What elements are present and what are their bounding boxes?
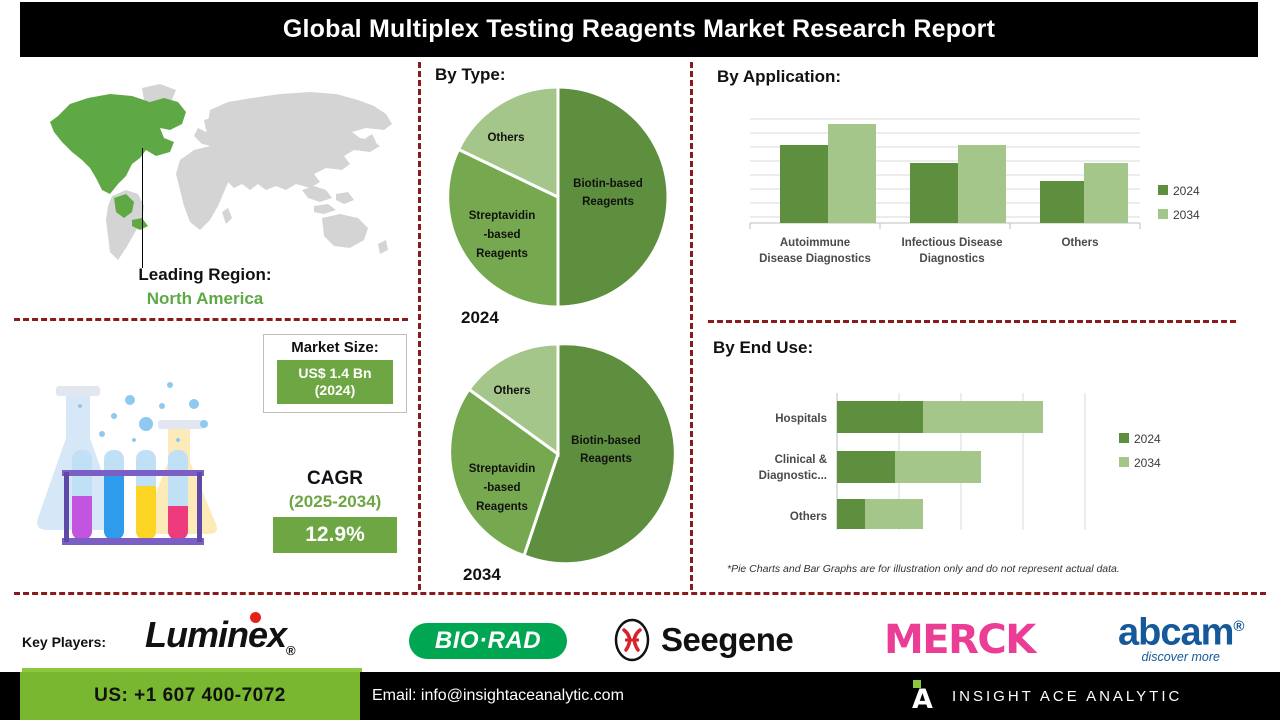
bar-2024-autoimmune [780,145,828,223]
bar-2024-clinical [837,451,895,483]
pie-2034-label-others: Others [493,385,530,397]
bar-2024-infectious [910,163,958,223]
cagr-period: (2025-2034) [258,492,412,512]
end-use-bar-chart: Hospitals Clinical & Diagnostic... Other… [715,375,1195,550]
legend-swatch-2024 [1119,433,1129,443]
bar-2034-hospitals [923,401,1043,433]
market-size-year: (2024) [315,382,355,399]
by-end-use-title: By End Use: [713,338,813,358]
legend-swatch-2034 [1158,209,1168,219]
legend-label-2024: 2024 [1173,184,1200,198]
pie-2024-label-strept: Streptavidin [469,210,535,222]
svg-text:Others: Others [1061,237,1098,249]
bar-2024-hospitals [837,401,923,433]
leading-region-block: Leading Region: North America [0,265,410,309]
footer-brand-name: INSIGHT ACE ANALYTIC [952,688,1182,705]
world-map [14,72,410,268]
by-application-title: By Application: [717,67,841,87]
seegene-mark-icon [612,618,652,662]
svg-text:Reagents: Reagents [476,501,528,513]
svg-text:-based: -based [483,229,520,241]
abcam-wordmark: abcam [1118,612,1233,654]
divider-horizontal-left [14,318,408,321]
footer-phone-block: US: +1 607 400-7072 [20,672,360,720]
svg-text:Diagnostics: Diagnostics [919,253,984,265]
logo-letter-a: A [912,686,933,713]
abcam-wordmark-row: abcam® [1118,608,1243,652]
biorad-wordmark: BIO·RAD [435,627,541,655]
legend-swatch-2034 [1119,457,1129,467]
svg-text:Autoimmune: Autoimmune [780,237,850,249]
svg-text:Infectious Disease: Infectious Disease [902,237,1003,249]
page-title: Global Multiplex Testing Reagents Market… [283,15,995,44]
logo-biorad: BIO·RAD [409,623,567,659]
bar-2034-clinical [895,451,981,483]
pie-2024-label-others: Others [487,132,524,144]
market-size-value: US$ 1.4 Bn [298,365,371,382]
legend-label-2024: 2024 [1134,432,1161,446]
bar-2034-others [865,499,923,529]
map-leader-line [142,148,143,268]
svg-text:Clinical &: Clinical & [775,454,827,466]
lab-equipment-illustration [18,358,258,573]
svg-text:Hospitals: Hospitals [775,413,827,425]
logo-seegene: Seegene [612,618,793,662]
svg-text:Reagents: Reagents [476,248,528,260]
legend-label-2034: 2034 [1173,208,1200,222]
disclaimer-note: *Pie Charts and Bar Graphs are for illus… [727,563,1120,575]
cagr-title: CAGR [258,468,412,490]
pie-chart-2024: Biotin-based Reagents Others Streptavidi… [440,85,680,310]
merck-wordmark: MERCK [884,617,1035,663]
luminex-registered-mark: ® [286,643,295,658]
luminex-dot-icon [250,612,261,623]
divider-vertical-left [418,62,421,590]
svg-text:Reagents: Reagents [582,196,634,208]
bar-2034-autoimmune [828,124,876,223]
logo-abcam: abcam® discover more [1118,608,1243,664]
key-players-label: Key Players: [22,634,106,650]
legend-label-2034: 2034 [1134,456,1161,470]
market-size-card: Market Size: US$ 1.4 Bn (2024) [263,334,407,413]
leading-region-value: North America [0,289,410,309]
svg-text:-based: -based [483,482,520,494]
footer-phone: US: +1 607 400-7072 [94,685,286,707]
logo-merck: MERCK [884,617,1035,663]
abcam-registered-mark: ® [1233,618,1243,635]
pie-chart-2034: Biotin-based Reagents Others Streptavidi… [440,342,680,567]
bar-2024-others [837,499,865,529]
svg-text:Disease Diagnostics: Disease Diagnostics [759,253,871,265]
legend-swatch-2024 [1158,185,1168,195]
footer-email: Email: info@insightaceanalytic.com [372,687,624,705]
svg-text:Reagents: Reagents [580,453,632,465]
seegene-wordmark: Seegene [661,621,793,659]
pie-2024-label-biotin: Biotin-based [573,178,643,190]
footer-email-block: Email: info@insightaceanalytic.com [372,672,624,720]
insightace-logo-icon: A [912,680,938,712]
by-type-title: By Type: [435,65,506,85]
market-size-chip: US$ 1.4 Bn (2024) [277,360,393,404]
header-bar: Global Multiplex Testing Reagents Market… [20,2,1258,57]
leading-region-label: Leading Region: [0,265,410,285]
pie-2034-label-biotin: Biotin-based [571,435,641,447]
market-size-title: Market Size: [291,339,379,356]
bar-2034-infectious [958,145,1006,223]
bar-2024-others [1040,181,1084,223]
footer-brand-block: A INSIGHT ACE ANALYTIC [912,672,1182,720]
divider-horizontal-right [708,320,1236,323]
logo-luminex: Luminex® [145,614,295,658]
luminex-wordmark: Luminex [145,614,286,655]
divider-horizontal-bottom [14,592,1266,595]
application-bar-chart: Autoimmune Disease Diagnostics Infectiou… [740,105,1195,265]
pie-2034-label-strept: Streptavidin [469,463,535,475]
svg-text:Diagnostic...: Diagnostic... [759,470,827,482]
svg-text:Others: Others [790,511,827,523]
pie-2024-year: 2024 [461,308,499,328]
pie-2034-year: 2034 [463,565,501,585]
cagr-card: CAGR (2025-2034) 12.9% [258,468,412,553]
divider-vertical-right [690,62,693,590]
cagr-value: 12.9% [273,517,397,553]
bar-2034-others [1084,163,1128,223]
